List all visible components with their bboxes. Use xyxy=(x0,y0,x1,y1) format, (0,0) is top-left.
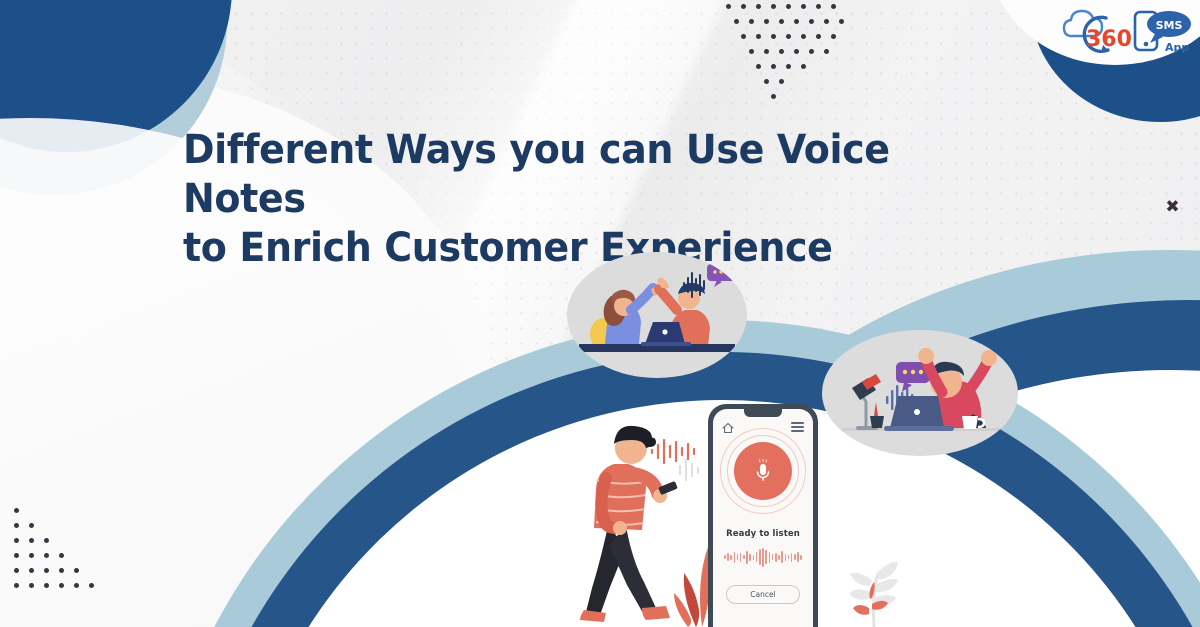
decor-dot xyxy=(824,49,829,54)
decor-dot xyxy=(779,79,784,84)
waveform-bar xyxy=(788,555,790,559)
decor-dot xyxy=(14,508,19,513)
waveform-bar xyxy=(791,553,793,562)
waveform-bar xyxy=(775,553,777,562)
waveform-bar xyxy=(730,555,732,560)
decor-dot xyxy=(771,34,776,39)
decor-dot xyxy=(839,19,844,24)
logo-app-text: App xyxy=(1165,41,1189,54)
waveform-bar xyxy=(746,551,748,564)
decor-dot xyxy=(29,553,34,558)
waveform-bar xyxy=(797,552,799,562)
decor-dot xyxy=(741,4,746,9)
decor-dot xyxy=(756,64,761,69)
waveform-bar xyxy=(794,554,796,560)
headline-line-2: to Enrich Customer Experience xyxy=(183,224,981,273)
audio-waveform xyxy=(713,545,813,569)
decor-dot xyxy=(44,553,49,558)
logo-sms-text: SMS xyxy=(1156,19,1183,32)
decor-dot xyxy=(14,553,19,558)
decor-dot xyxy=(771,64,776,69)
decor-dot xyxy=(831,34,836,39)
plant-leaves-gray-decoration xyxy=(836,552,904,627)
phone-screen: Ready to listen Cancel xyxy=(713,409,813,627)
waveform-bar xyxy=(800,555,802,560)
decor-dot xyxy=(794,49,799,54)
decor-dot xyxy=(44,568,49,573)
waveform-bar xyxy=(762,548,764,567)
decor-dot xyxy=(779,49,784,54)
waveform-bar xyxy=(724,555,726,559)
decor-dot xyxy=(14,568,19,573)
decor-dot xyxy=(801,34,806,39)
waveform-bar xyxy=(772,554,774,560)
headline-line-1: Different Ways you can Use Voice Notes xyxy=(183,127,890,222)
decor-dot xyxy=(29,538,34,543)
decor-dot xyxy=(779,19,784,24)
decor-dot xyxy=(44,583,49,588)
decor-dot xyxy=(59,568,64,573)
decor-dot xyxy=(816,4,821,9)
decor-dot xyxy=(764,49,769,54)
microphone-icon xyxy=(754,459,772,483)
decor-dot xyxy=(14,538,19,543)
decor-dot xyxy=(734,19,739,24)
waveform-bar xyxy=(765,550,767,564)
waveform-bar xyxy=(740,553,742,562)
microphone-record-button[interactable] xyxy=(734,442,792,500)
waveform-bar xyxy=(769,552,771,563)
record-control xyxy=(720,428,806,514)
decor-dot xyxy=(59,553,64,558)
waveform-bar xyxy=(785,554,787,561)
cancel-button[interactable]: Cancel xyxy=(726,585,800,604)
waveform-bar xyxy=(753,555,755,560)
decor-dot xyxy=(44,538,49,543)
waveform-bar xyxy=(727,553,729,561)
decor-dot xyxy=(29,568,34,573)
decor-dot xyxy=(74,583,79,588)
decor-dot xyxy=(89,583,94,588)
phone-mockup: Ready to listen Cancel xyxy=(708,404,818,627)
decor-dot xyxy=(801,64,806,69)
decor-dot xyxy=(786,34,791,39)
decor-dot xyxy=(824,19,829,24)
decor-dot xyxy=(786,64,791,69)
phone-notch xyxy=(744,409,782,417)
page-title: Different Ways you can Use Voice Notes t… xyxy=(183,126,981,272)
decor-dot xyxy=(59,583,64,588)
decor-dot xyxy=(801,4,806,9)
waveform-bar xyxy=(781,551,783,563)
waveform-bar xyxy=(737,554,739,560)
decor-dot xyxy=(741,34,746,39)
decor-dot xyxy=(771,94,776,99)
waveform-bar xyxy=(759,549,761,565)
waveform-bar xyxy=(756,552,758,562)
decor-dot xyxy=(29,523,34,528)
decor-dot xyxy=(29,583,34,588)
decor-dot xyxy=(756,34,761,39)
brand-logo-360-sms-app[interactable]: 360 SMS App xyxy=(1062,2,1194,70)
decor-dot xyxy=(771,4,776,9)
decor-dot xyxy=(726,4,731,9)
decor-dot xyxy=(816,34,821,39)
decor-dot xyxy=(749,19,754,24)
waveform-bar xyxy=(743,555,745,559)
decor-dot xyxy=(14,523,19,528)
scene-celebration xyxy=(822,330,1018,456)
sound-wave-icon xyxy=(652,440,694,463)
decor-dot xyxy=(831,4,836,9)
waveform-bar xyxy=(734,552,736,563)
waveform-bar xyxy=(749,554,751,561)
waveform-bar xyxy=(778,555,780,560)
decor-dot xyxy=(809,19,814,24)
decor-dot xyxy=(756,4,761,9)
voice-notes-hero-banner: 360 SMS App Different Ways you can Use V… xyxy=(0,0,1200,627)
logo-360-text: 360 xyxy=(1086,27,1132,52)
decor-dot xyxy=(764,79,769,84)
recording-status-text: Ready to listen xyxy=(713,529,813,539)
decor-dot xyxy=(749,49,754,54)
decor-dot xyxy=(794,19,799,24)
scene-high-five xyxy=(567,252,747,378)
decor-dot xyxy=(809,49,814,54)
decor-dot xyxy=(764,19,769,24)
decor-dot xyxy=(74,568,79,573)
close-icon[interactable]: ✖ xyxy=(1164,199,1181,216)
decor-dot xyxy=(786,4,791,9)
decor-dot xyxy=(14,583,19,588)
